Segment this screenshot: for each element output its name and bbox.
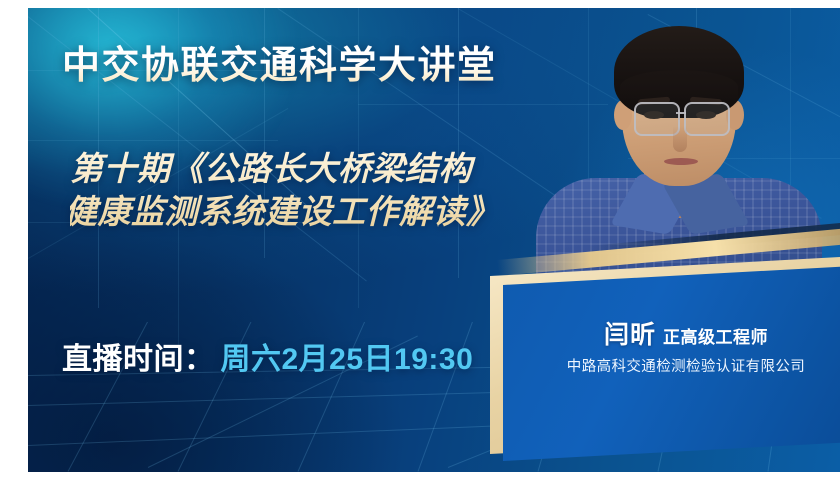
page-title: 中交协联交通科学大讲堂 xyxy=(62,34,497,89)
speaker-job-title: 正高级工程师 xyxy=(663,328,768,347)
episode-subtitle: 第十期《公路长大桥梁结构 健康监测系统建设工作解读》 xyxy=(70,148,590,234)
broadcast-time-value: 周六2月25日19:30 xyxy=(221,343,474,376)
broadcast-time-row: 直播时间：周六2月25日19:30 xyxy=(62,334,473,378)
speaker-name: 闫昕 xyxy=(604,321,656,349)
poster-artwork-canvas: 中交协联交通科学大讲堂 第十期《公路长大桥梁结构 健康监测系统建设工作解读》 直… xyxy=(28,8,840,472)
speaker-name-row: 闫昕正高级工程师 xyxy=(503,315,840,351)
subtitle-line-2: 健康监测系统建设工作解读》 xyxy=(64,191,590,234)
live-stream-promo-poster: 中交协联交通科学大讲堂 第十期《公路长大桥梁结构 健康监测系统建设工作解读》 直… xyxy=(0,0,840,480)
speaker-organization: 中路高科交通检测检验认证有限公司 xyxy=(503,355,840,376)
subtitle-line-1: 第十期《公路长大桥梁结构 xyxy=(70,150,472,187)
speaker-info-panel: 闫昕正高级工程师 中路高科交通检测检验认证有限公司 xyxy=(490,276,840,472)
broadcast-time-label: 直播时间： xyxy=(62,343,215,376)
